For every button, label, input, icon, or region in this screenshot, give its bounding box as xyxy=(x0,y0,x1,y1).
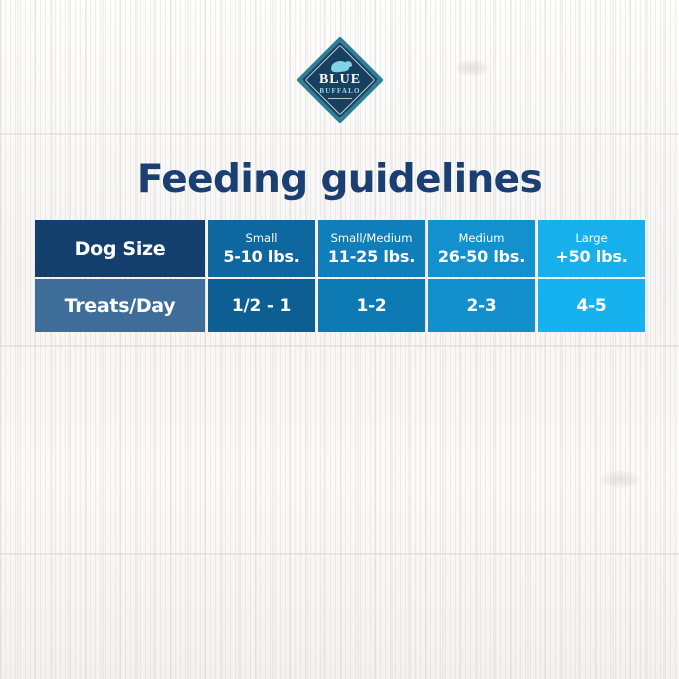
row-header-label: Dog Size xyxy=(75,238,166,260)
value-cell-small: 1/2 - 1 xyxy=(208,279,315,332)
plank-seam xyxy=(0,133,679,136)
treats-value: 1-2 xyxy=(356,296,386,316)
table-row-treats-per-day: Treats/Day 1/2 - 1 1-2 2-3 4-5 xyxy=(35,279,645,332)
size-weight: 26-50 lbs. xyxy=(438,247,525,266)
page-title: Feeding guidelines xyxy=(0,157,679,202)
product-photo xyxy=(0,340,679,679)
treats-value: 2-3 xyxy=(466,296,496,316)
row-header-treats-per-day: Treats/Day xyxy=(35,279,205,332)
table-row-dog-size: Dog Size Small 5-10 lbs. Small/Medium 11… xyxy=(35,220,645,277)
treats-value: 1/2 - 1 xyxy=(232,296,291,316)
value-cell-medium: 2-3 xyxy=(428,279,535,332)
size-name: Small xyxy=(246,231,278,245)
header-cell-large: Large +50 lbs. xyxy=(538,220,645,277)
blue-buffalo-logo: BLUE BUFFALO xyxy=(300,40,380,120)
size-name: Large xyxy=(575,231,607,245)
size-name: Small/Medium xyxy=(331,231,413,245)
header-cell-small-medium: Small/Medium 11-25 lbs. xyxy=(318,220,425,277)
size-weight: +50 lbs. xyxy=(555,247,627,266)
value-cell-large: 4-5 xyxy=(538,279,645,332)
header-cell-small: Small 5-10 lbs. xyxy=(208,220,315,277)
wood-knot xyxy=(455,60,489,76)
treats-value: 4-5 xyxy=(576,296,606,316)
size-name: Medium xyxy=(459,231,505,245)
row-header-label: Treats/Day xyxy=(65,295,176,317)
logo-wordmark-blue: BLUE xyxy=(300,73,380,87)
row-header-dog-size: Dog Size xyxy=(35,220,205,277)
size-weight: 11-25 lbs. xyxy=(328,247,415,266)
logo-divider xyxy=(328,98,352,99)
infographic-canvas: BLUE BUFFALO Feeding guidelines Dog Size… xyxy=(0,0,679,679)
header-cell-medium: Medium 26-50 lbs. xyxy=(428,220,535,277)
value-cell-small-medium: 1-2 xyxy=(318,279,425,332)
feeding-guidelines-table: Dog Size Small 5-10 lbs. Small/Medium 11… xyxy=(35,220,645,332)
size-weight: 5-10 lbs. xyxy=(223,247,299,266)
logo-wordmark-buffalo: BUFFALO xyxy=(300,88,380,95)
